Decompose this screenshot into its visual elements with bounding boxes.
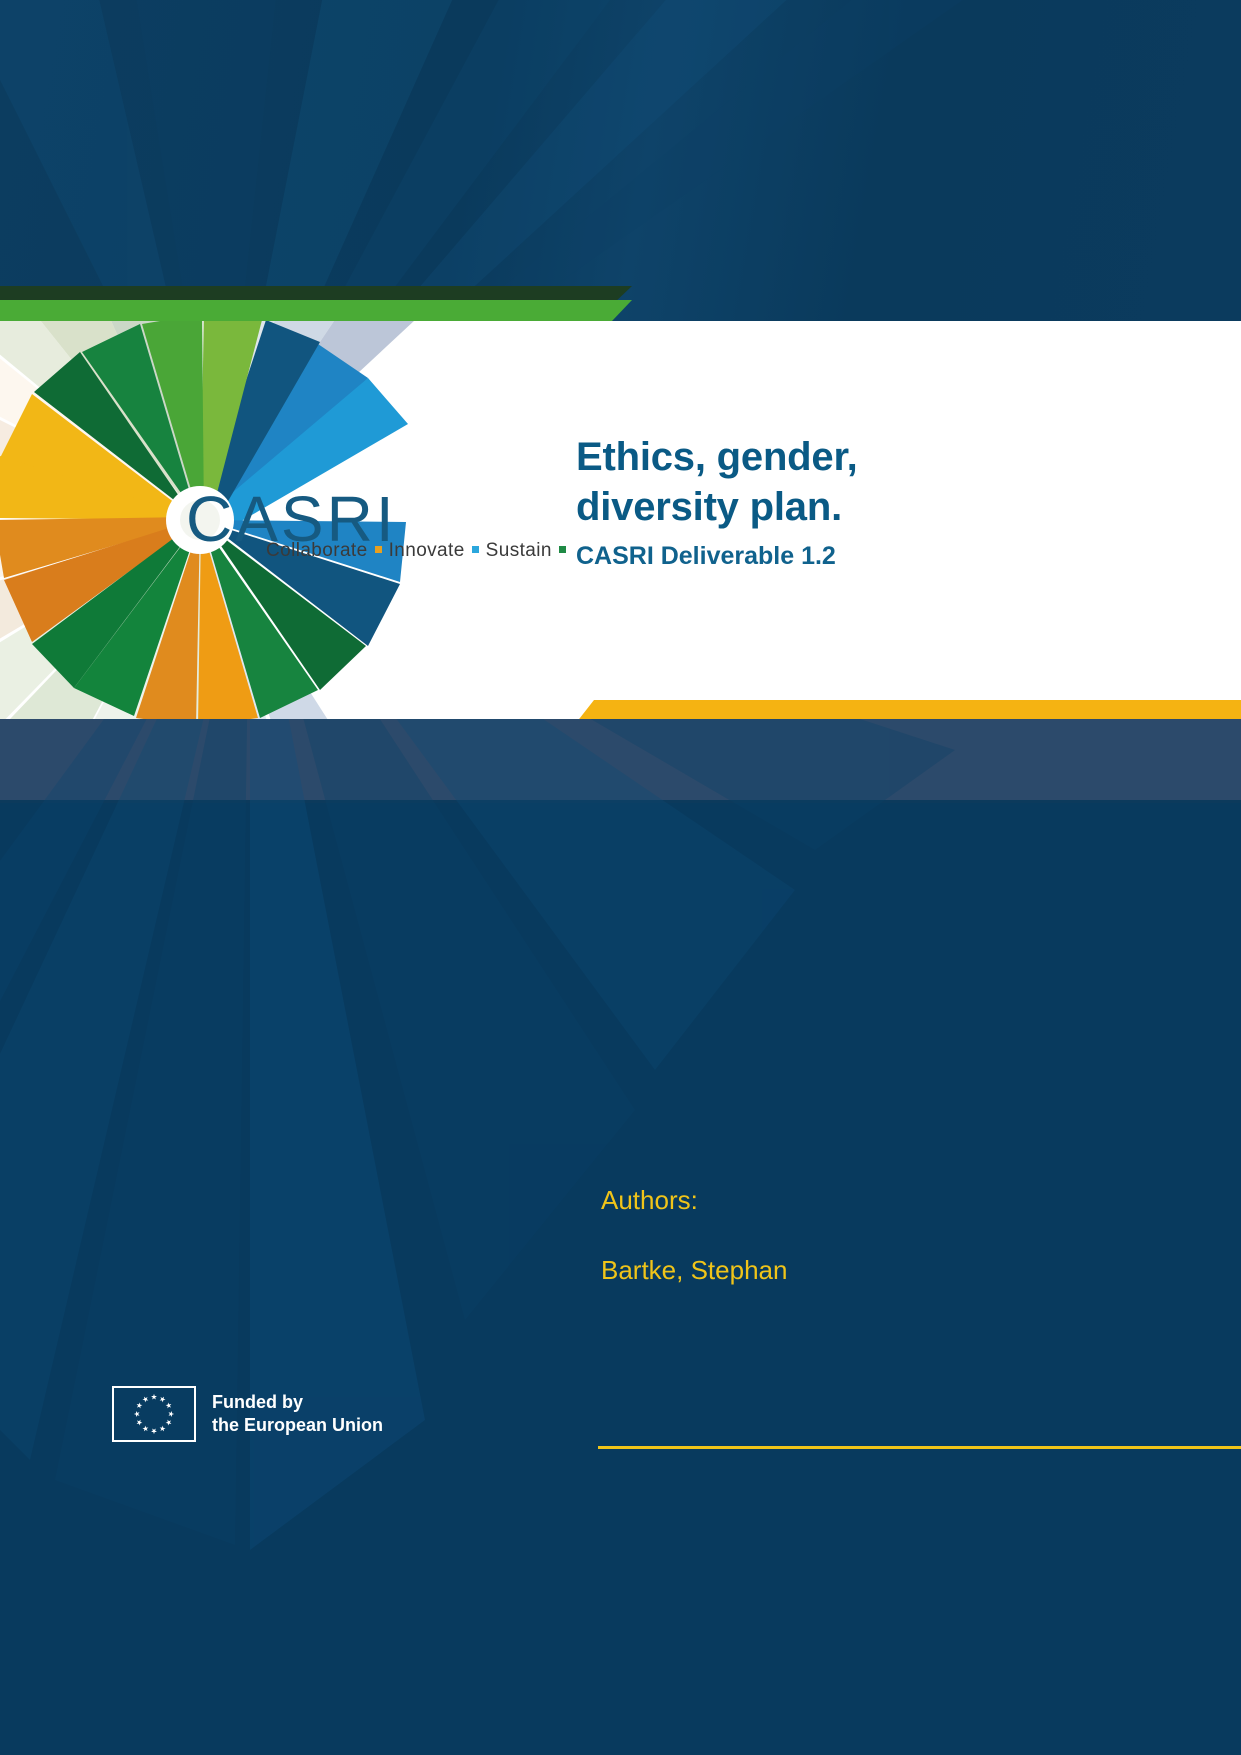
eu-funding-line-2: the European Union: [212, 1414, 383, 1437]
european-union-flag-icon: [112, 1386, 196, 1442]
bottom-yellow-rule: [598, 1446, 1241, 1449]
authors-block: Authors: Bartke, Stephan: [601, 1183, 1161, 1287]
tagline-dot-green-icon: [559, 546, 566, 553]
casri-tagline: CollaborateInnovateSustain: [266, 540, 573, 562]
page-title-line-1: Ethics, gender,: [576, 435, 858, 479]
tagline-dot-blue-icon: [472, 546, 479, 553]
tagline-word-sustain: Sustain: [486, 540, 552, 561]
tagline-word-innovate: Innovate: [389, 540, 465, 561]
authors-label: Authors:: [601, 1183, 1161, 1217]
page-subtitle: CASRI Deliverable 1.2: [576, 540, 1196, 572]
eu-funding-badge: Funded by the European Union: [112, 1386, 383, 1442]
document-cover-page: CASRI CollaborateInnovateSustain Ethics,…: [0, 0, 1241, 1755]
title-block: Ethics, gender, diversity plan. CASRI De…: [576, 432, 1196, 572]
tagline-word-collaborate: Collaborate: [266, 540, 368, 561]
authors-names: Bartke, Stephan: [601, 1253, 1161, 1287]
page-title: Ethics, gender, diversity plan.: [576, 432, 1196, 532]
mid-navy-band: [0, 719, 1241, 803]
tagline-dot-orange-icon: [375, 546, 382, 553]
page-title-line-2: diversity plan.: [576, 485, 842, 529]
eu-funding-line-1: Funded by: [212, 1391, 383, 1414]
eu-funding-text: Funded by the European Union: [212, 1391, 383, 1437]
